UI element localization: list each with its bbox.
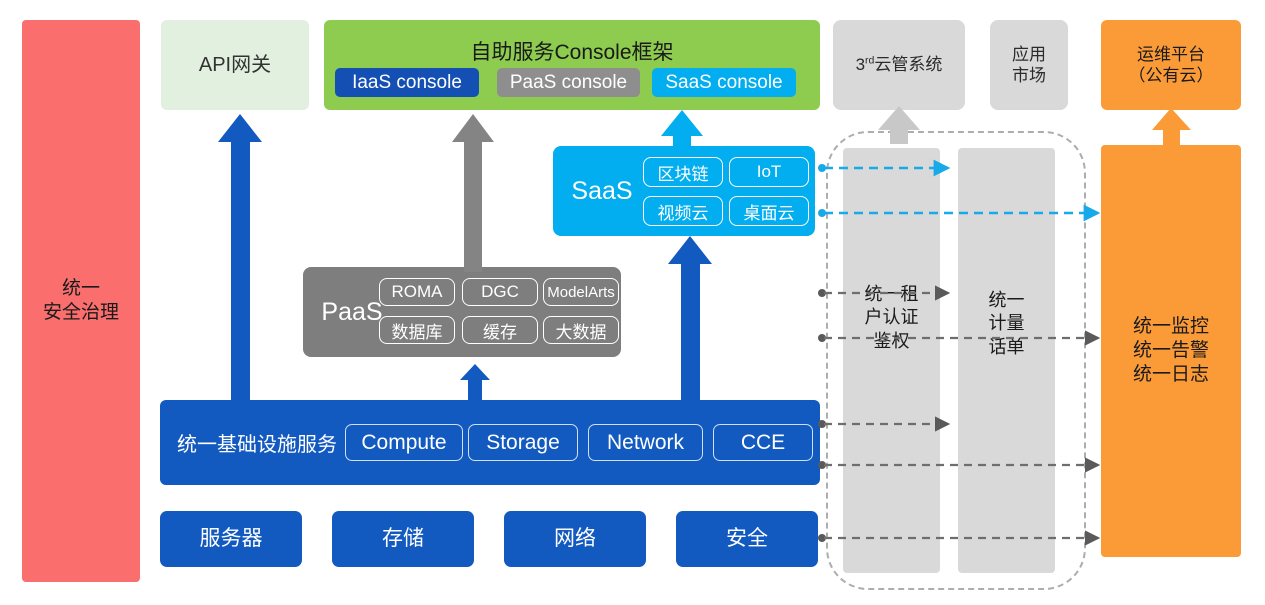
metering-line1: 统一 <box>989 289 1025 312</box>
paas-tag-modelarts-label: ModelArts <box>547 284 615 301</box>
metering-billing-column <box>958 148 1055 573</box>
saas-block-label: SaaS <box>559 146 645 236</box>
paas-console-label: PaaS console <box>510 72 627 94</box>
metering-line3: 话单 <box>989 336 1025 359</box>
third-party-label: 3rd云管系统 <box>856 54 943 75</box>
hardware-box-server[interactable]: 服务器 <box>160 511 302 567</box>
tenant-auth-line2: 户认证 <box>865 306 919 329</box>
ops-platform-top-box: 运维平台 （公有云） <box>1101 20 1241 110</box>
paas-tag-modelarts[interactable]: ModelArts <box>543 278 619 306</box>
metering-billing-label: 统一 计量 话单 <box>958 288 1055 360</box>
infra-tag-cce[interactable]: CCE <box>713 424 813 461</box>
saas-tag-blockchain[interactable]: 区块链 <box>643 157 723 187</box>
infra-tag-storage-label: Storage <box>486 431 560 455</box>
arrow-infra-to-saas <box>668 236 712 400</box>
saas-tag-iot-label: IoT <box>757 162 782 182</box>
paas-tag-dgc-label: DGC <box>481 282 519 302</box>
arrow-paas-to-console <box>452 114 494 272</box>
tenant-auth-line3: 鉴权 <box>874 330 910 353</box>
saas-tag-video-cloud[interactable]: 视频云 <box>643 196 723 226</box>
tenant-auth-line1: 统一租 <box>865 283 919 306</box>
arrow-saas-to-console <box>661 110 703 148</box>
saas-tag-video-cloud-label: 视频云 <box>658 199 709 224</box>
paas-tag-database[interactable]: 数据库 <box>379 316 455 344</box>
infrastructure-label: 统一基础设施服务 <box>177 400 367 485</box>
paas-tag-dgc[interactable]: DGC <box>462 278 538 306</box>
architecture-diagram: 统一 安全治理 API网关 自助服务Console框架 IaaS console… <box>0 0 1265 605</box>
ops-platform-line1: 运维平台 <box>1137 44 1205 65</box>
saas-block: SaaS 区块链 IoT 视频云 桌面云 <box>553 146 815 236</box>
iaas-console-label: IaaS console <box>352 72 462 94</box>
infra-tag-network[interactable]: Network <box>588 424 703 461</box>
hardware-network-label: 网络 <box>554 526 596 552</box>
saas-console-label: SaaS console <box>665 72 782 94</box>
unified-monitoring-panel: 统一监控 统一告警 统一日志 <box>1101 145 1241 557</box>
third-party-cloud-mgmt-box: 3rd云管系统 <box>833 20 965 110</box>
iaas-console-chip[interactable]: IaaS console <box>335 68 479 97</box>
infra-tag-cce-label: CCE <box>741 431 785 455</box>
self-service-console-framework: 自助服务Console框架 IaaS console PaaS console … <box>324 20 820 110</box>
left-panel-line1: 统一 <box>62 277 100 301</box>
right-panel-line2: 统一告警 <box>1133 339 1209 363</box>
unified-security-governance-panel: 统一 安全治理 <box>22 20 140 582</box>
saas-tag-iot[interactable]: IoT <box>729 157 809 187</box>
left-panel-line2: 安全治理 <box>43 301 119 325</box>
paas-tag-cache[interactable]: 缓存 <box>462 316 538 344</box>
infra-tag-network-label: Network <box>607 431 684 455</box>
right-panel-line3: 统一日志 <box>1133 363 1209 387</box>
metering-line2: 计量 <box>989 312 1025 335</box>
hardware-server-label: 服务器 <box>200 526 263 552</box>
hardware-box-security[interactable]: 安全 <box>676 511 818 567</box>
hardware-box-storage[interactable]: 存储 <box>332 511 474 567</box>
paas-tag-bigdata[interactable]: 大数据 <box>543 316 619 344</box>
app-market-line2: 市场 <box>1012 65 1046 86</box>
console-framework-title: 自助服务Console框架 <box>324 36 820 66</box>
paas-tag-roma[interactable]: ROMA <box>379 278 455 306</box>
paas-tag-database-label: 数据库 <box>392 318 443 343</box>
tenant-auth-label: 统一租 户认证 鉴权 <box>843 282 940 354</box>
tenant-auth-column <box>843 148 940 573</box>
paas-console-chip[interactable]: PaaS console <box>497 68 640 97</box>
arrow-infra-to-paas <box>460 364 490 400</box>
hardware-security-label: 安全 <box>726 526 768 552</box>
saas-tag-desktop-cloud[interactable]: 桌面云 <box>729 196 809 226</box>
saas-console-chip[interactable]: SaaS console <box>652 68 796 97</box>
right-panel-line1: 统一监控 <box>1133 315 1209 339</box>
third-party-prefix: 3 <box>856 55 865 74</box>
infra-tag-compute-label: Compute <box>361 431 446 455</box>
arrow-to-ops-platform <box>1152 108 1191 146</box>
unified-infrastructure-bar: 统一基础设施服务 Compute Storage Network CCE <box>160 400 820 485</box>
paas-block: PaaS ROMA DGC ModelArts 数据库 缓存 大数据 <box>303 267 621 357</box>
third-party-suffix: 云管系统 <box>874 55 942 74</box>
infra-tag-compute[interactable]: Compute <box>345 424 463 461</box>
app-market-line1: 应用 <box>1012 44 1046 65</box>
saas-tag-desktop-cloud-label: 桌面云 <box>744 199 795 224</box>
hardware-box-network[interactable]: 网络 <box>504 511 646 567</box>
app-market-box: 应用 市场 <box>990 20 1068 110</box>
paas-tag-cache-label: 缓存 <box>483 318 517 343</box>
paas-tag-bigdata-label: 大数据 <box>556 318 607 343</box>
paas-tag-roma-label: ROMA <box>392 282 443 302</box>
api-gateway-label: API网关 <box>199 53 271 78</box>
hardware-storage-label: 存储 <box>382 526 424 552</box>
arrow-infra-to-apigw <box>218 114 262 420</box>
saas-tag-blockchain-label: 区块链 <box>658 160 709 185</box>
ops-platform-line2: （公有云） <box>1129 65 1214 86</box>
api-gateway-box: API网关 <box>161 20 309 110</box>
infra-tag-storage[interactable]: Storage <box>468 424 578 461</box>
